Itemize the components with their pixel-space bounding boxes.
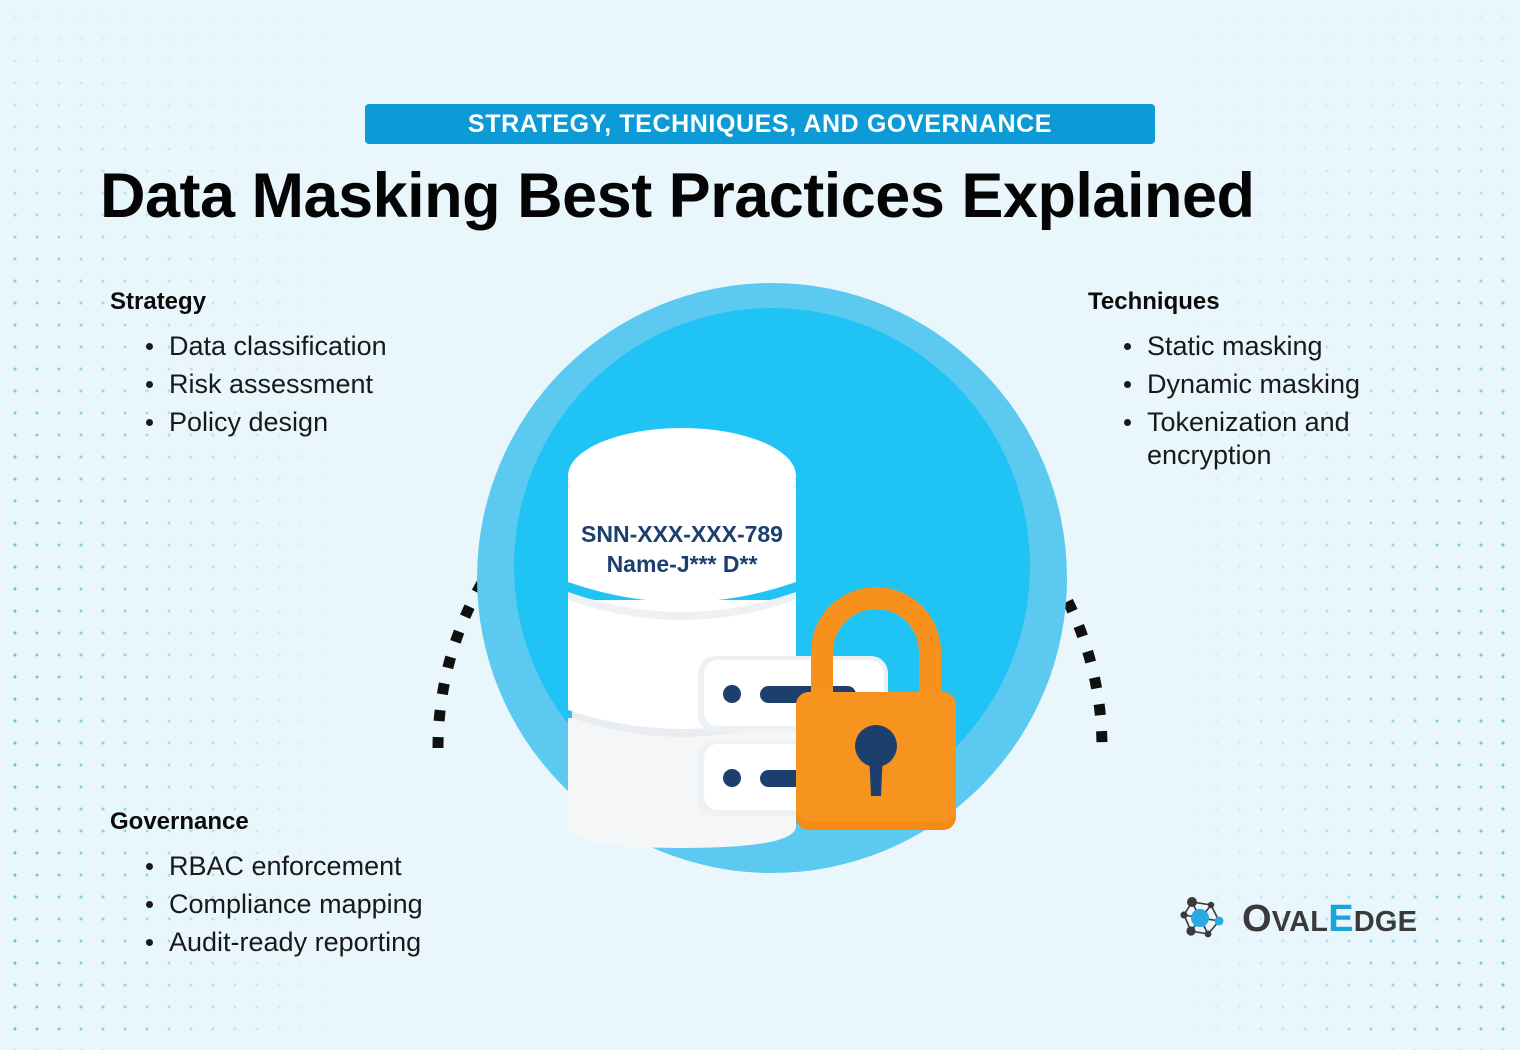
logo-part-o: O bbox=[1242, 898, 1272, 940]
list-item: Tokenization and encryption bbox=[1122, 406, 1428, 472]
list-techniques: Static masking Dynamic masking Tokenizat… bbox=[1122, 330, 1428, 472]
ovaledge-wordmark: OVALEDGE bbox=[1242, 900, 1417, 938]
block-heading-techniques: Techniques bbox=[1088, 288, 1428, 316]
logo-part-val: VAL bbox=[1272, 906, 1328, 938]
list-item: Audit-ready reporting bbox=[144, 926, 530, 959]
list-item: Static masking bbox=[1122, 330, 1428, 363]
server-led-icon bbox=[723, 769, 741, 787]
block-techniques: Techniques Static masking Dynamic maskin… bbox=[1088, 288, 1428, 477]
infographic-canvas: STRATEGY, TECHNIQUES, AND GOVERNANCE Dat… bbox=[0, 0, 1520, 1050]
ovaledge-logo[interactable]: OVALEDGE bbox=[1178, 893, 1417, 945]
database-text-line-2: Name-J*** D** bbox=[607, 551, 758, 577]
central-illustration: SNN-XXX-XXX-789 Name-J*** D** bbox=[420, 248, 1120, 893]
ovaledge-network-icon bbox=[1178, 893, 1230, 945]
server-led-icon bbox=[723, 685, 741, 703]
list-item: Dynamic masking bbox=[1122, 368, 1428, 401]
eyebrow-badge: STRATEGY, TECHNIQUES, AND GOVERNANCE bbox=[365, 104, 1155, 144]
database-text-line-1: SNN-XXX-XXX-789 bbox=[581, 521, 783, 547]
logo-part-e: E bbox=[1328, 898, 1354, 940]
database-top-cap bbox=[568, 428, 796, 524]
page-title: Data Masking Best Practices Explained bbox=[100, 160, 1440, 232]
logo-part-dge: DGE bbox=[1354, 906, 1417, 938]
